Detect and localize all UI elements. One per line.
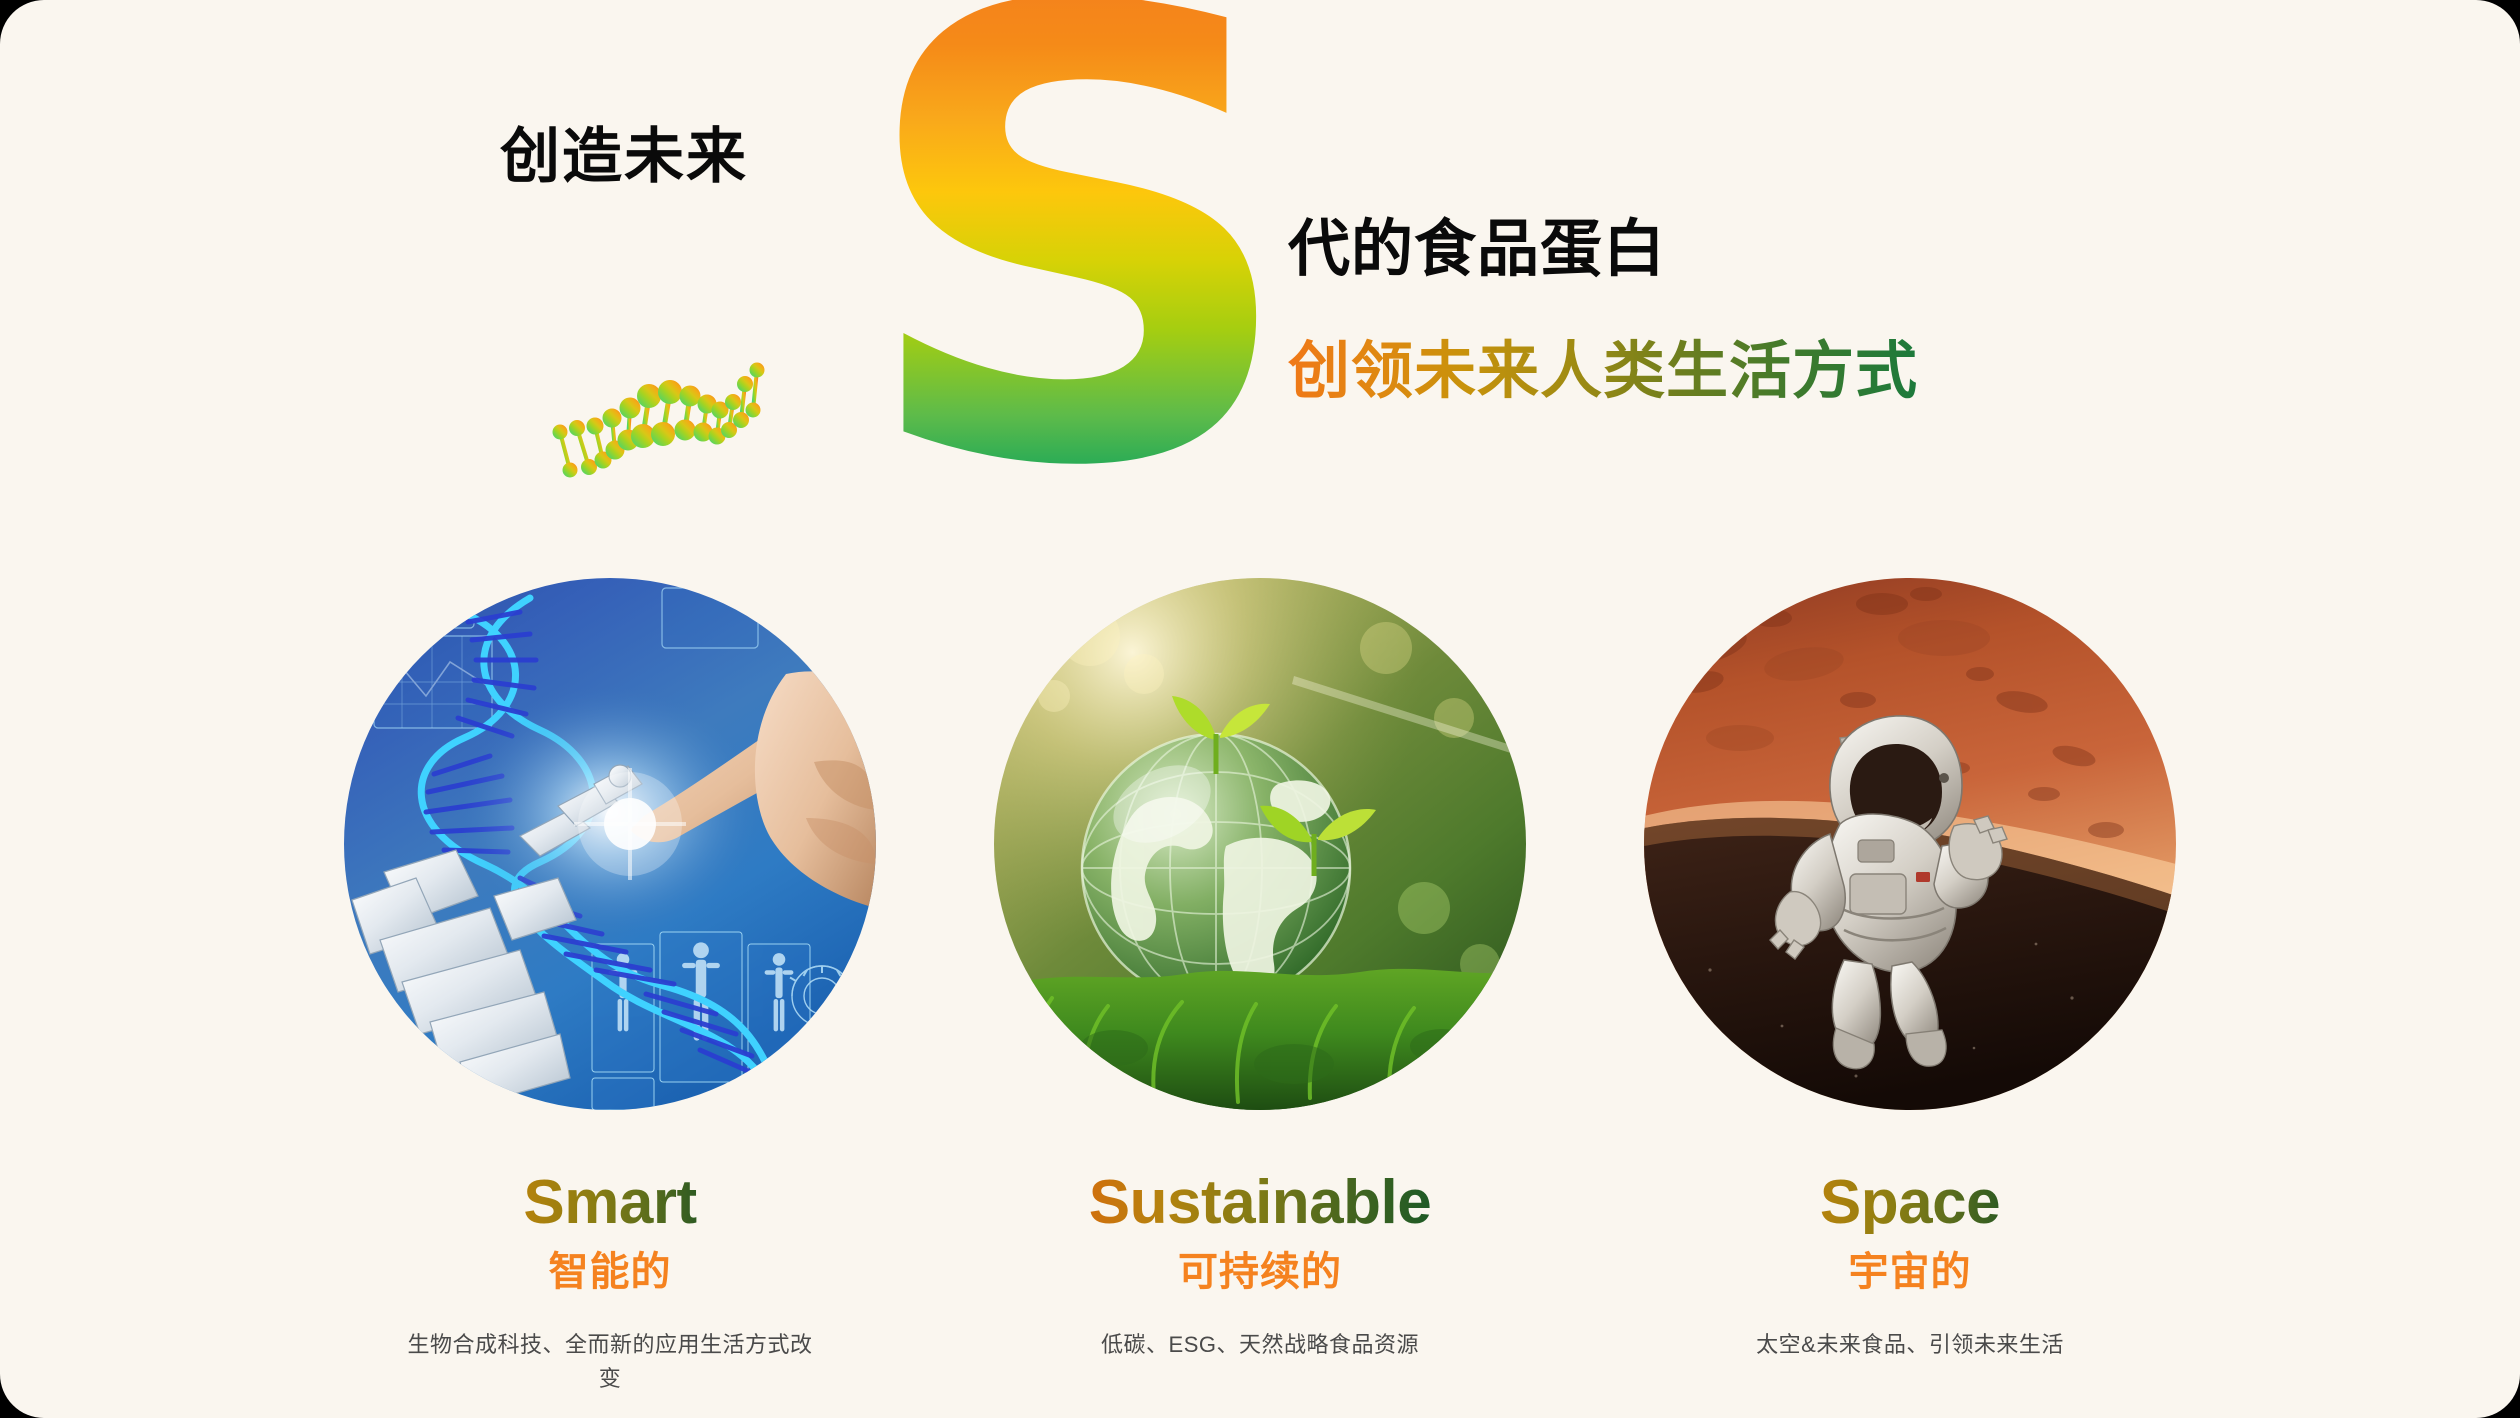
pillars-row: Smart 智能的 生物合成科技、全而新的应用生活方式改变	[0, 578, 2520, 1418]
pillar-sustainable: Sustainable 可持续的 低碳、ESG、天然战略食品资源	[940, 578, 1580, 1362]
pillar-title-en: Space	[1820, 1172, 2000, 1234]
presentation-slide: 创造未来 S 代的食品蛋白 创领未来人类生活方式	[0, 0, 2520, 1418]
pillar-title-cn: 可持续的	[940, 1252, 1580, 1292]
headline-line-1: 代的食品蛋白	[1288, 198, 1666, 288]
glass-globe-sprout-grass-image	[994, 578, 1526, 1110]
dna-helix-icon	[545, 312, 765, 482]
pillar-title-en: Sustainable	[1089, 1172, 1432, 1234]
pillar-title-cn: 智能的	[290, 1252, 930, 1292]
pillar-smart: Smart 智能的 生物合成科技、全而新的应用生活方式改变	[290, 578, 930, 1396]
pillar-description: 生物合成科技、全而新的应用生活方式改变	[400, 1328, 820, 1396]
pillar-title-en: Smart	[523, 1172, 696, 1234]
headline-kicker: 创造未来	[500, 108, 748, 195]
pillar-title-cn: 宇宙的	[1590, 1252, 2230, 1292]
pillar-description: 太空&未来食品、引领未来生活	[1700, 1328, 2120, 1362]
pillar-description: 低碳、ESG、天然战略食品资源	[1050, 1328, 1470, 1362]
pillar-space: Space 宇宙的 太空&未来食品、引领未来生活	[1590, 578, 2230, 1362]
robot-hand-dna-touch-image	[344, 578, 876, 1110]
headline-block: 创造未来 S 代的食品蛋白 创领未来人类生活方式	[0, 0, 2520, 520]
astronaut-mars-orbit-image	[1644, 578, 2176, 1110]
headline-line-2: 创领未来人类生活方式	[1288, 320, 1918, 410]
brand-letter-s: S	[855, 0, 1302, 552]
